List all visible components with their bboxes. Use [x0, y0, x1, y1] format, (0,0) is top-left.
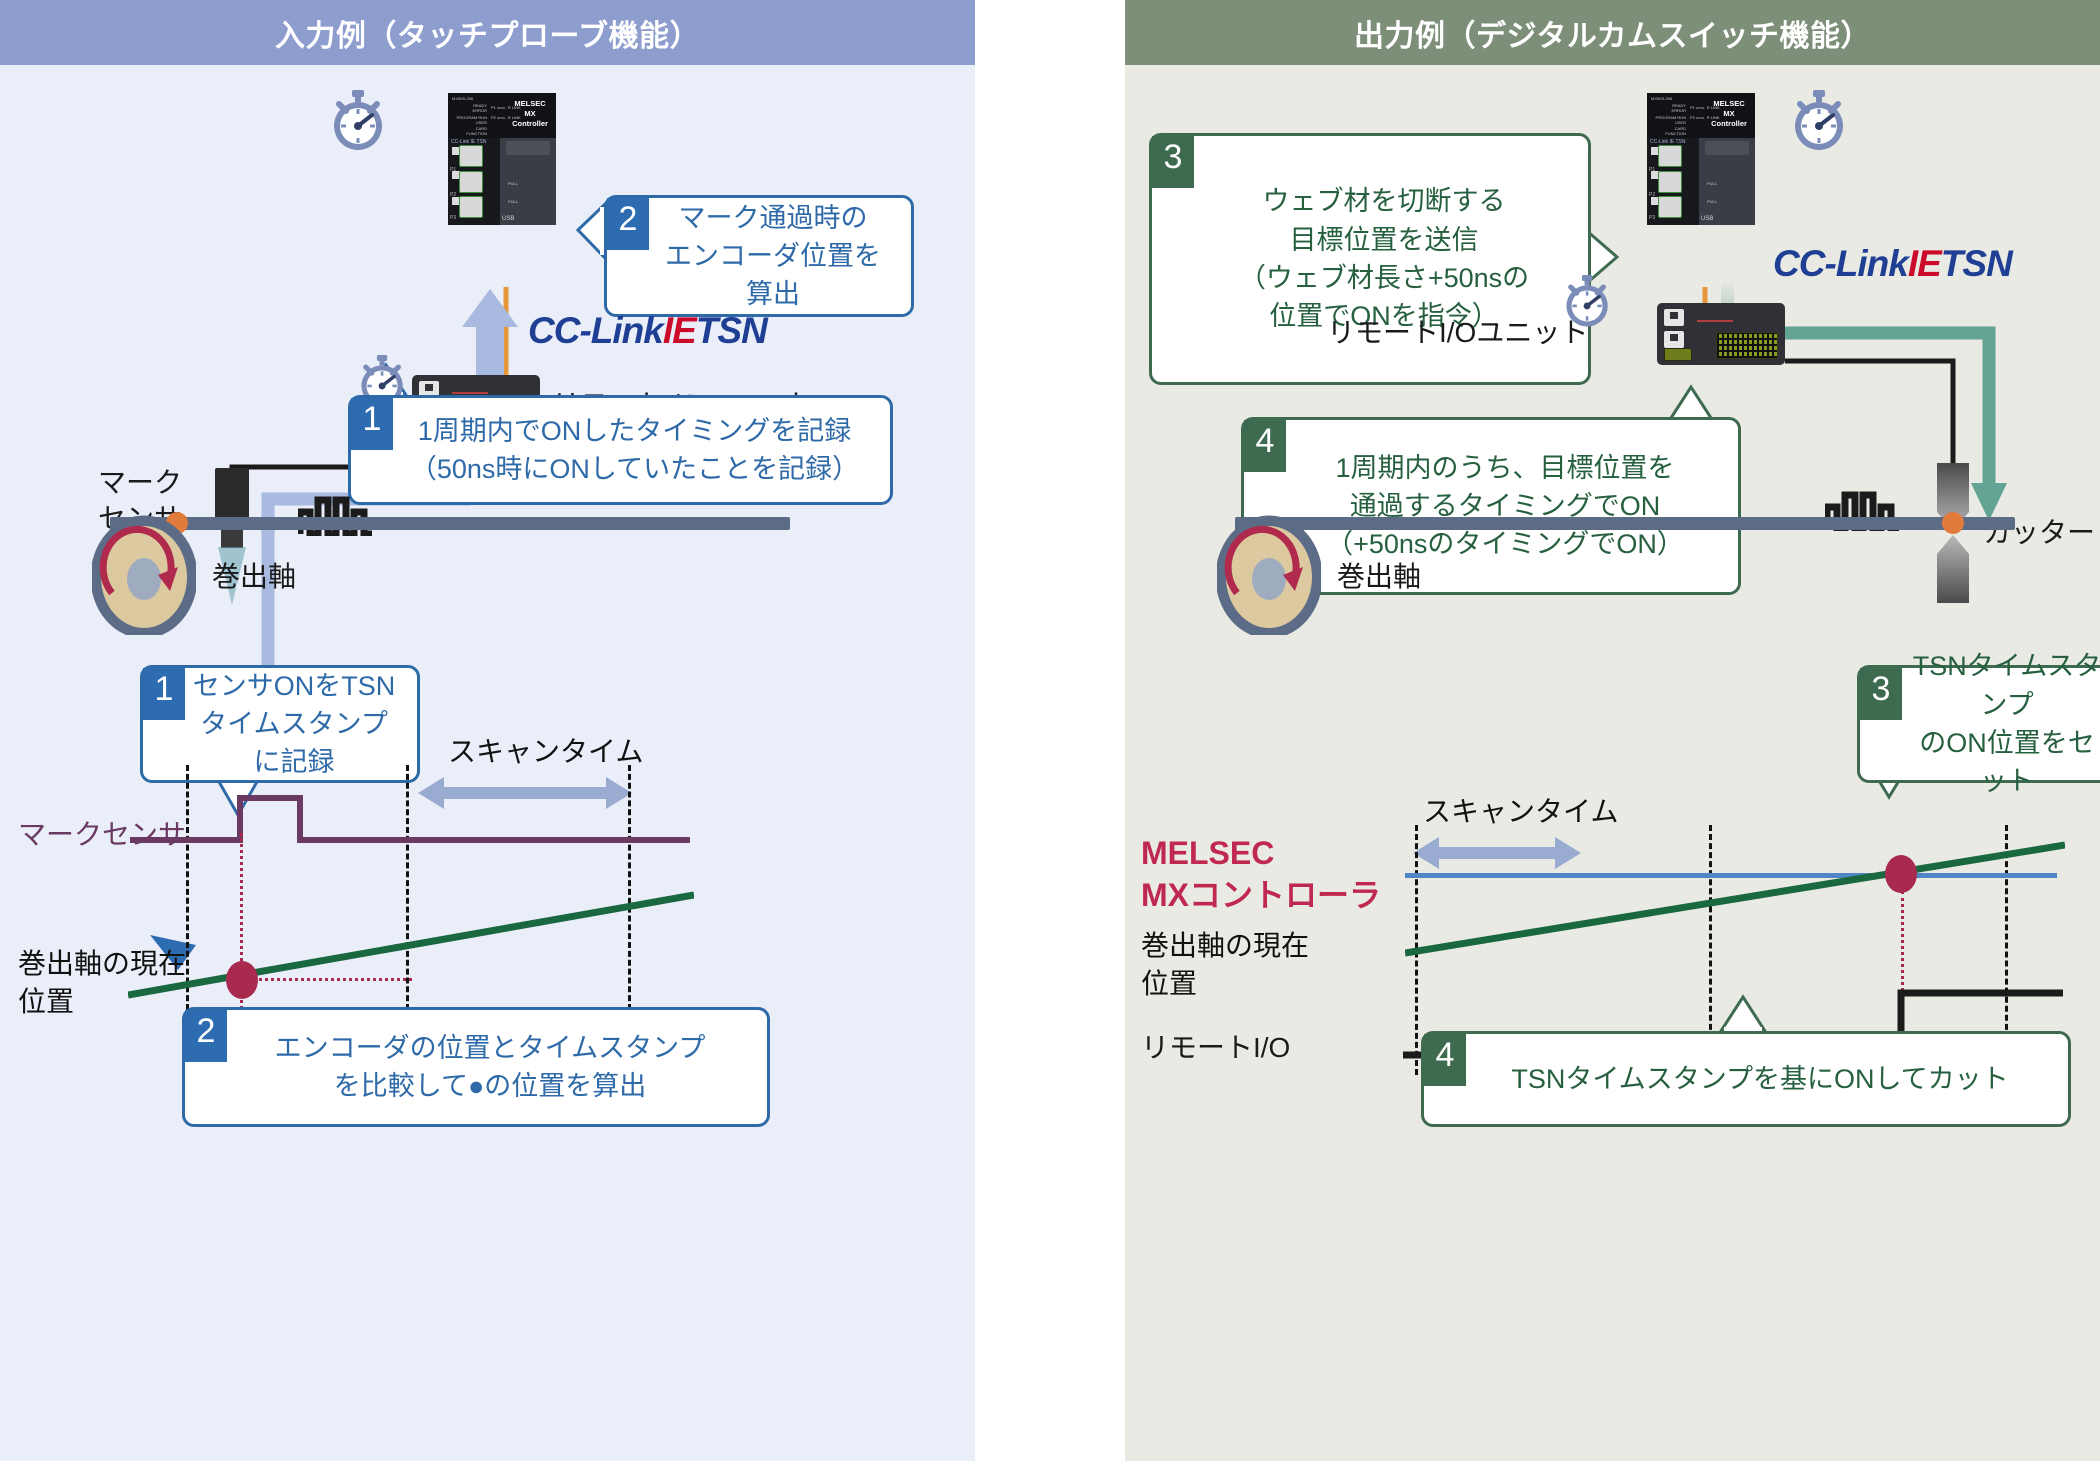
callout-left-1: 1 1周期内でONしたタイミングを記録 （50ns時にONしていたことを記録） [348, 395, 893, 505]
callout-left-2: 2 マーク通過時の エンコーダ位置を算出 [604, 195, 914, 317]
unwind-roll-right [1217, 515, 1321, 635]
plc-brand-label: MELSEC MX Controller [508, 99, 552, 129]
cutter-blade-bottom [1937, 535, 1969, 603]
callout-text: 1周期内でONしたタイミングを記録 （50ns時にONしていたことを記録） [393, 398, 890, 502]
callout-number: 1 [143, 668, 185, 720]
callout-number: 4 [1424, 1034, 1466, 1086]
pulse-waveform-icon-left [298, 490, 374, 541]
cut-point-dot [1942, 512, 1964, 534]
callout-text: TSNタイムスタンプを基にONしてカット [1466, 1034, 2068, 1124]
chart-position-label-left: 巻出軸の現在 位置 [18, 945, 186, 1021]
cclink-ie-tsn-logo-right: CC-LinkIETSN [1773, 243, 2012, 285]
web-material-strip-left [110, 517, 790, 530]
plc-controller-melsec-mx: MX50S-256 READYERROR PROGRAM RUNUSERCARD… [448, 93, 556, 225]
callout-left-chart-1: 1 センサONをTSN タイムスタンプに記録 [140, 665, 420, 783]
unwind-shaft-label-right: 巻出軸 [1337, 559, 1421, 595]
panel-output-example: 出力例（デジタルカムスイッチ機能） [1125, 0, 2100, 1461]
unwind-shaft-label-left: 巻出軸 [212, 559, 296, 595]
panel-left-title: 入力例（タッチプローブ機能） [275, 11, 700, 55]
remote-io-label-right: リモートI/Oユニット [1327, 315, 1588, 351]
callout-left-chart-2: 2 エンコーダの位置とタイムスタンプ を比較して●の位置を算出 [182, 1007, 770, 1127]
stopwatch-icon-controller-right [1791, 90, 1847, 152]
chart-intersection-marker-right [1885, 855, 1917, 893]
callout-number: 1 [351, 398, 393, 450]
callout-right-chart-3: 3 TSNタイムスタンプ のON位置をセット [1857, 665, 2100, 783]
logo-part-ie: IE [663, 310, 696, 351]
logo-part-tsn: TSN [1941, 243, 2012, 284]
logo-part-ie: IE [1908, 243, 1941, 284]
chart-horizontal-dotted-left [248, 978, 412, 981]
callout-text: マーク通過時の エンコーダ位置を算出 [649, 198, 911, 314]
chart-position-label-right: 巻出軸の現在 位置 [1141, 927, 1309, 1003]
callout-number: 2 [185, 1010, 227, 1062]
scan-time-label-left: スキャンタイム [448, 730, 643, 770]
callout-number: 3 [1860, 668, 1902, 720]
callout-number: 3 [1152, 136, 1194, 188]
panel-right-header: 出力例（デジタルカムスイッチ機能） [1125, 0, 2100, 65]
chart-remote-io-label: リモートI/O [1141, 1030, 1290, 1066]
right-stage: 3 ウェブ材を切断する 目標位置を送信 （ウェブ材長さ+50nsの 位置でONを… [1125, 65, 2100, 1461]
callout-text: エンコーダの位置とタイムスタンプ を比較して●の位置を算出 [227, 1010, 767, 1124]
panel-input-example: 入力例（タッチプローブ機能） [0, 0, 975, 1461]
unwind-roll-left [92, 515, 196, 635]
mark-sensor-head [221, 528, 243, 548]
logo-part-cclink: CC-Link [1773, 243, 1908, 284]
chart-encoder-ramp-left [128, 865, 694, 1020]
scan-time-label-right: スキャンタイム [1423, 790, 1618, 830]
left-stage: MX50S-256 READYERROR PROGRAM RUNUSERCARD… [0, 65, 975, 1461]
panel-left-header: 入力例（タッチプローブ機能） [0, 0, 975, 65]
callout-number: 4 [1244, 420, 1286, 472]
panel-right-title: 出力例（デジタルカムスイッチ機能） [1354, 11, 1871, 55]
logo-part-tsn: TSN [696, 310, 767, 351]
callout-text: TSNタイムスタンプ のON位置をセット [1902, 668, 2100, 780]
plc-controller-melsec-mx-right: MX50S-256 READYERROR PROGRAM RUNUSERCARD… [1647, 93, 1755, 225]
remote-io-unit-right [1657, 303, 1785, 365]
chart-mark-sensor-waveform [130, 780, 690, 875]
cclink-ie-tsn-logo-left: CC-LinkIETSN [528, 310, 767, 352]
chart-mark-sensor-label: マークセンサ [18, 817, 186, 853]
callout-right-chart-4: 4 TSNタイムスタンプを基にONしてカット [1421, 1031, 2071, 1127]
callout-number: 2 [607, 198, 649, 250]
melsec-controller-label: MELSEC MXコントローラ [1141, 833, 1381, 916]
plc-brand-label-right: MELSEC MX Controller [1707, 99, 1751, 129]
logo-part-cclink: CC-Link [528, 310, 663, 351]
stopwatch-icon-controller [330, 90, 386, 152]
callout-text: センサONをTSN タイムスタンプに記録 [185, 668, 417, 780]
web-material-strip-right [1235, 517, 2015, 530]
